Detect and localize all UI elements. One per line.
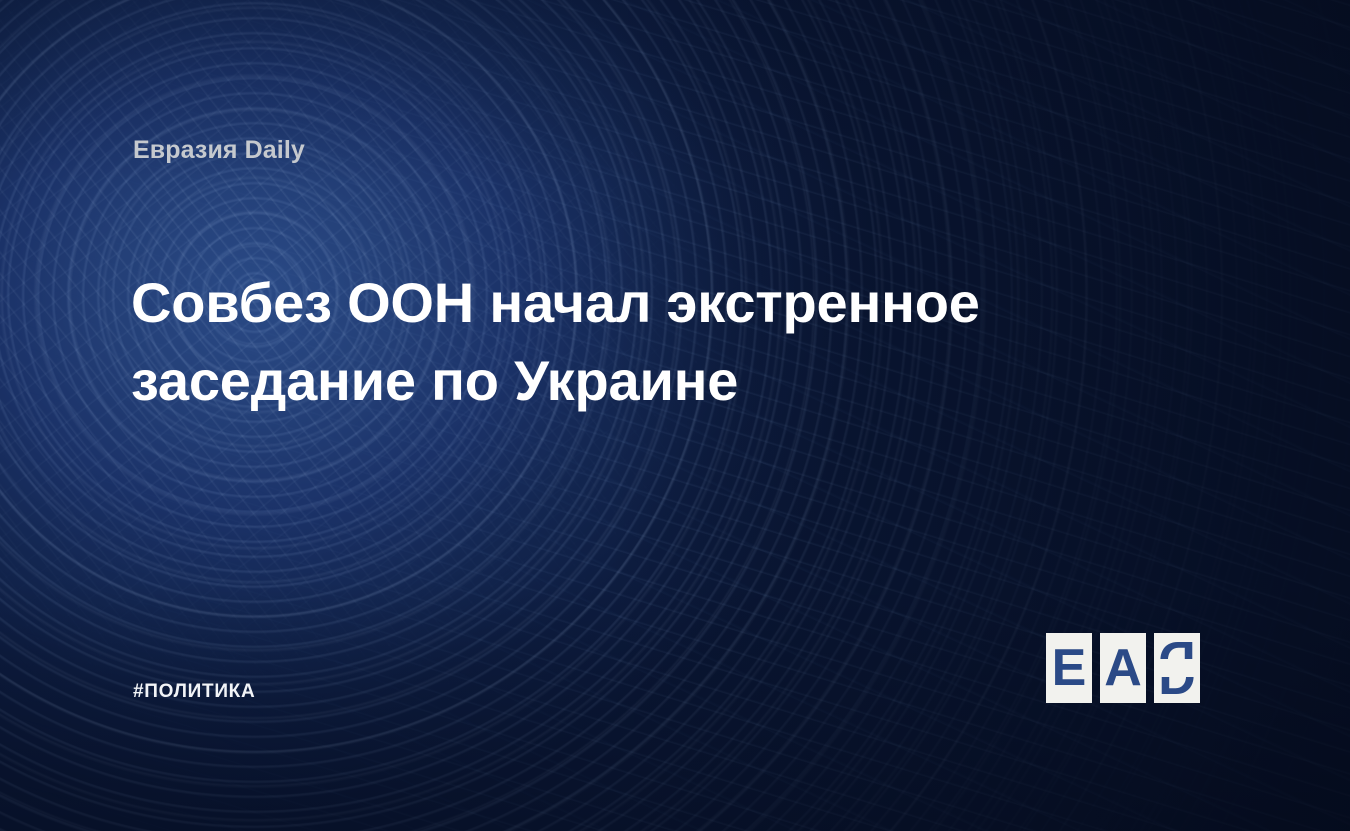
publication-masthead: Евразия Daily xyxy=(133,136,305,165)
headline-line-1: Совбез ООН начал экстренное xyxy=(131,264,1011,342)
logo-letter-e: E xyxy=(1046,633,1092,703)
ead-logo: E A D D xyxy=(1046,633,1200,703)
logo-letter-d-bottom: D xyxy=(1154,677,1200,712)
headline: Совбез ООН начал экстренное заседание по… xyxy=(131,264,1011,420)
logo-tile-d: D D xyxy=(1154,633,1200,703)
logo-letter-a: A xyxy=(1100,633,1146,703)
logo-letter-d-top-mirrored: D xyxy=(1154,624,1200,659)
category-hashtag[interactable]: #ПОЛИТИКА xyxy=(133,681,255,703)
logo-tile-e: E xyxy=(1046,633,1092,703)
news-share-card: Евразия Daily Совбез ООН начал экстренно… xyxy=(0,0,1350,831)
logo-tile-a: A xyxy=(1100,633,1146,703)
headline-line-2: заседание по Украине xyxy=(131,342,1011,420)
